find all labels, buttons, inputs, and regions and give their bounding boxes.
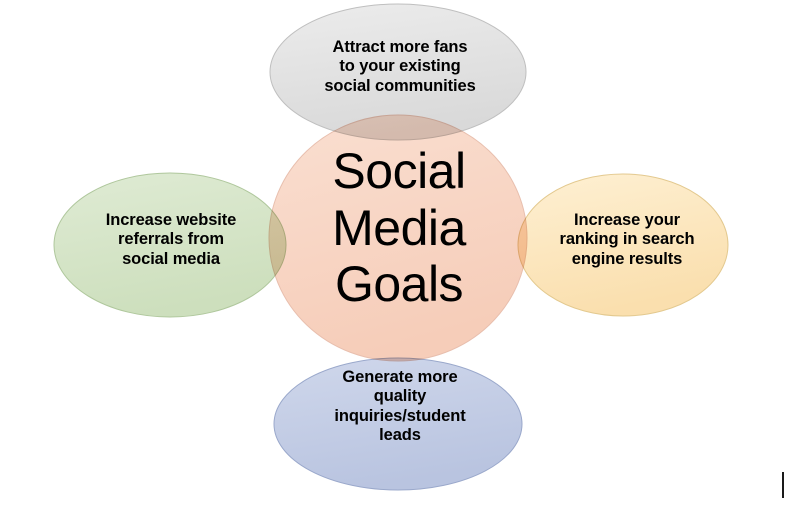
shape-social-media-goals[interactable]	[269, 115, 527, 361]
text-caret	[782, 472, 784, 498]
shape-increase-search-ranking[interactable]	[518, 174, 728, 316]
diagram-shapes	[0, 0, 788, 514]
diagram-canvas: Attract more fans to your existing socia…	[0, 0, 788, 514]
shape-increase-website-referrals[interactable]	[54, 173, 286, 317]
shape-generate-quality-inquiries[interactable]	[274, 358, 522, 490]
